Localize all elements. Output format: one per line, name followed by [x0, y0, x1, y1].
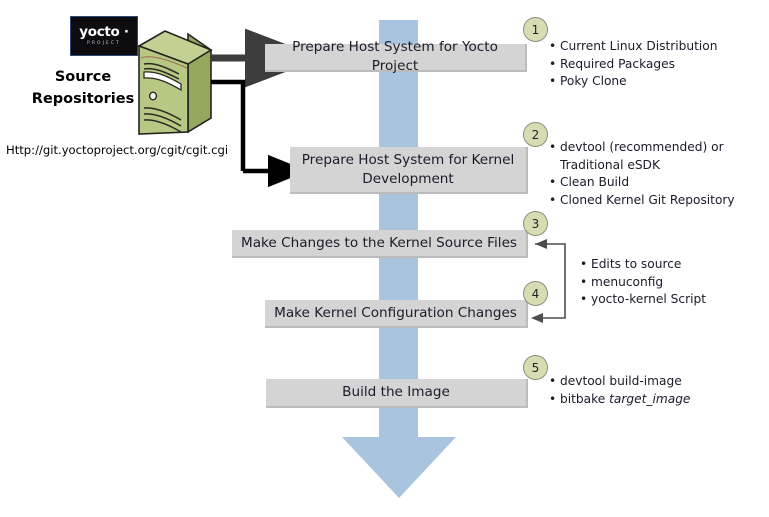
bullet-text: devtool (recommended) or Traditional eSD… — [560, 139, 767, 174]
bullet-glyph: • — [549, 373, 560, 391]
bullet-list-step-2: •devtool (recommended) or Traditional eS… — [549, 139, 767, 209]
bullet-text: Clean Build — [560, 174, 767, 192]
bullet-glyph: • — [580, 291, 591, 309]
bullet-glyph: • — [580, 256, 591, 274]
bullet-glyph: • — [549, 56, 560, 74]
bullet-text: Poky Clone — [560, 73, 764, 91]
bullet-text: Required Packages — [560, 56, 764, 74]
step-number-2: 2 — [523, 122, 548, 147]
bullet-item: •devtool build-image — [549, 373, 749, 391]
bullet-item: •Current Linux Distribution — [549, 38, 764, 56]
logo-subtitle: PROJECT — [87, 42, 121, 46]
source-repositories-label: Source Repositories — [24, 66, 142, 110]
bullet-item: •menuconfig — [580, 274, 760, 292]
step-number-3: 3 — [523, 211, 548, 236]
bullet-text: yocto-kernel Script — [591, 291, 760, 309]
bullet-item: •Required Packages — [549, 56, 764, 74]
bullet-text: Edits to source — [591, 256, 760, 274]
bullet-list-step-5: •devtool build-image•bitbake target_imag… — [549, 373, 749, 408]
bullet-item: •bitbake target_image — [549, 391, 749, 409]
bullet-text-emphasis: target_image — [609, 392, 690, 406]
flow-arrow-shaft — [379, 20, 418, 438]
bullet-glyph: • — [549, 139, 560, 174]
bullet-text: menuconfig — [591, 274, 760, 292]
step-number-4: 4 — [523, 281, 548, 306]
bullet-glyph: • — [549, 391, 560, 409]
step-number-1: 1 — [523, 17, 548, 42]
source-label-line2: Repositories — [24, 88, 142, 110]
logo-wordmark: yocto · — [79, 26, 129, 40]
source-repository-url: Http://git.yoctoproject.org/cgit/cgit.cg… — [6, 143, 236, 157]
bullet-text: Current Linux Distribution — [560, 38, 764, 56]
workflow-diagram: yocto · PROJECT Source Repositories Http… — [0, 0, 769, 517]
bullet-glyph: • — [549, 38, 560, 56]
bullet-list-step-1: •Current Linux Distribution•Required Pac… — [549, 38, 764, 91]
bullet-item: •Poky Clone — [549, 73, 764, 91]
bullet-item: •yocto-kernel Script — [580, 291, 760, 309]
step-number-5: 5 — [523, 355, 548, 380]
bullet-glyph: • — [549, 73, 560, 91]
bullet-glyph: • — [580, 274, 591, 292]
process-box-build-image[interactable]: Build the Image — [266, 379, 528, 408]
bullet-item: •devtool (recommended) or Traditional eS… — [549, 139, 767, 174]
process-box-prepare-host-yocto[interactable]: Prepare Host System for Yocto Project — [265, 44, 527, 72]
bullet-text: bitbake target_image — [560, 391, 749, 409]
bullet-item: •Clean Build — [549, 174, 767, 192]
bullet-text: Cloned Kernel Git Repository — [560, 192, 767, 210]
process-box-make-source-changes[interactable]: Make Changes to the Kernel Source Files — [232, 230, 528, 258]
yocto-project-logo: yocto · PROJECT — [70, 16, 138, 56]
process-box-prepare-host-kernel[interactable]: Prepare Host System for Kernel Developme… — [290, 147, 528, 194]
bullet-glyph: • — [549, 174, 560, 192]
bullet-list-steps-3-4: •Edits to source•menuconfig•yocto-kernel… — [580, 256, 760, 309]
process-box-make-config-changes[interactable]: Make Kernel Configuration Changes — [265, 300, 528, 328]
bullet-text: devtool build-image — [560, 373, 749, 391]
bullet-item: •Edits to source — [580, 256, 760, 274]
server-tower-icon — [133, 28, 215, 140]
bullet-glyph: • — [549, 192, 560, 210]
source-label-line1: Source — [24, 66, 142, 88]
bullet-item: •Cloned Kernel Git Repository — [549, 192, 767, 210]
flow-arrow-head — [342, 437, 456, 498]
